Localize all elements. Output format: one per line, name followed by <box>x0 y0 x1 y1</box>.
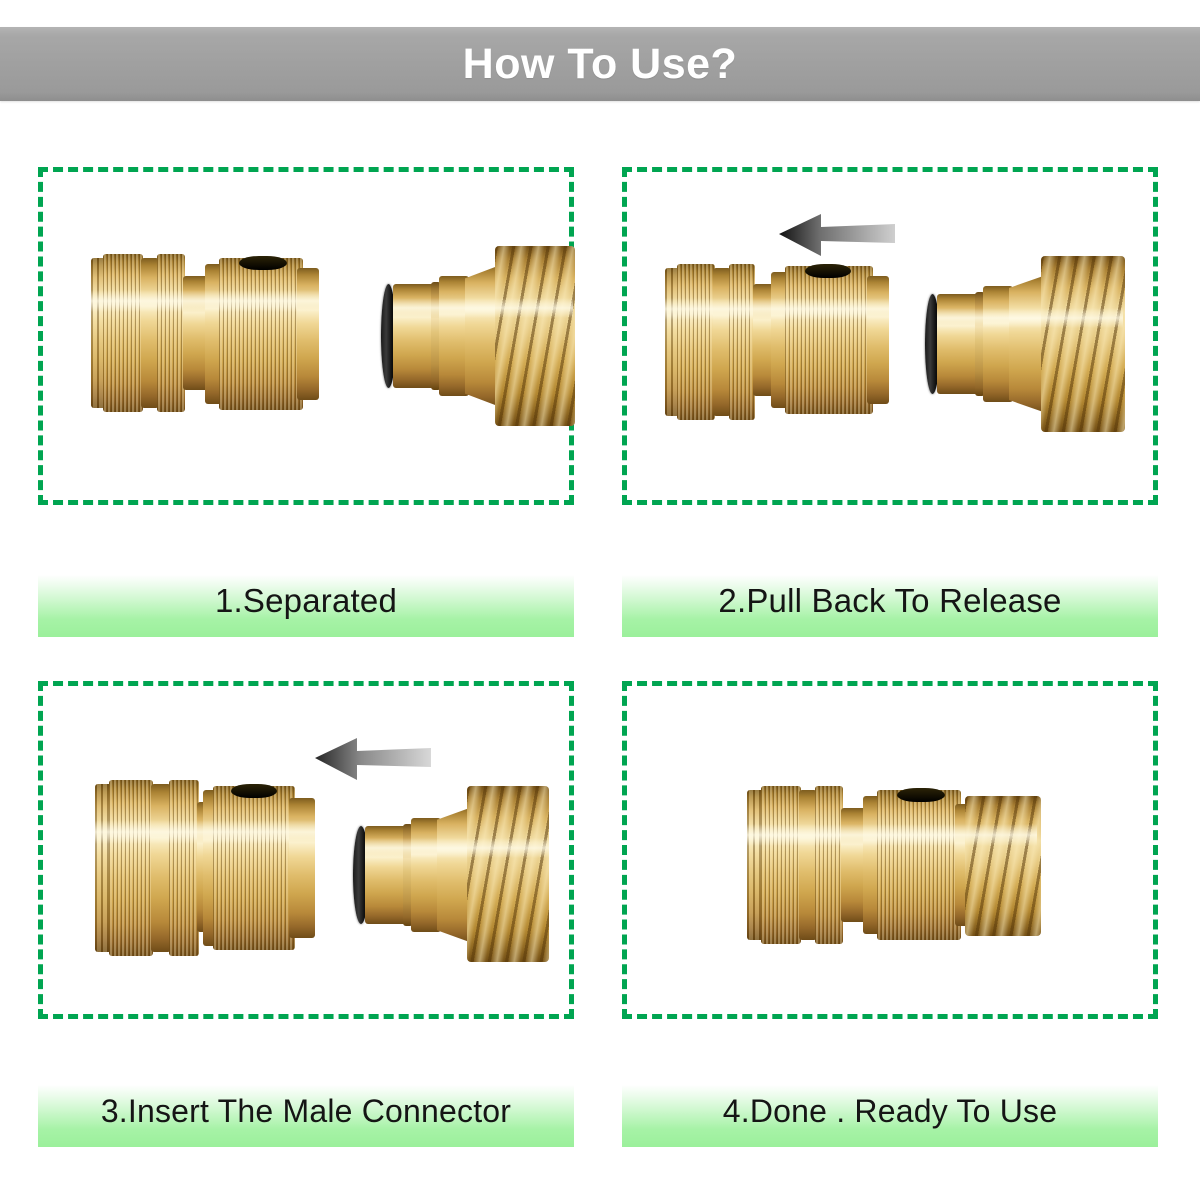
female-connector-release-sleeve <box>219 258 303 410</box>
step-3-caption: 3.Insert The Male Connector <box>38 1075 574 1147</box>
step-1-caption: 1.Separated <box>38 565 574 637</box>
male-connector-plug-stem <box>937 294 979 394</box>
male-connector-shoulder <box>983 286 1013 402</box>
steps-grid: 1.Separated <box>0 101 1200 1200</box>
female-connector-knurled-ring-b <box>169 780 199 956</box>
female-connector-release-sleeve <box>785 266 873 414</box>
insert-arrow-icon <box>313 734 433 786</box>
female-connector-knurled-ring-a <box>109 780 153 956</box>
male-connector-threads <box>467 786 549 962</box>
male-connector-plug-stem <box>393 284 435 388</box>
pull-back-arrow-icon <box>777 210 897 262</box>
female-connector-nose <box>867 276 889 404</box>
step-3-illustration <box>43 686 579 1024</box>
female-connector-knurled-ring-b <box>157 254 185 412</box>
step-4-image-frame <box>622 681 1158 1019</box>
step-4-caption: 4.Done . Ready To Use <box>622 1075 1158 1147</box>
male-connector-threads <box>495 246 575 426</box>
step-2-caption: 2.Pull Back To Release <box>622 565 1158 637</box>
step-4-illustration <box>627 686 1163 1024</box>
header-bar: How To Use? <box>0 27 1200 101</box>
step-card-4: 4.Done . Ready To Use <box>622 681 1162 1141</box>
step-card-1: 1.Separated <box>38 167 578 627</box>
step-2-image-frame <box>622 167 1158 505</box>
assembled-knurled-ring-b <box>815 786 843 944</box>
female-connector-nose <box>297 268 319 400</box>
step-2-illustration <box>627 172 1163 510</box>
female-connector-knurled-ring-b <box>729 264 755 420</box>
male-connector-plug-stem <box>365 826 407 924</box>
male-connector-threads <box>1041 256 1125 432</box>
female-connector-body-a <box>151 784 171 952</box>
female-connector-knurled-ring-a <box>677 264 715 420</box>
female-connector-locking-slot <box>231 784 277 798</box>
female-connector-knurled-ring-a <box>103 254 143 412</box>
page-title: How To Use? <box>463 40 738 89</box>
assembled-release-sleeve <box>877 790 961 940</box>
female-connector-locking-slot <box>805 264 851 278</box>
female-connector-release-sleeve <box>213 786 295 950</box>
male-connector-shoulder <box>411 818 441 932</box>
step-card-3: 3.Insert The Male Connector <box>38 681 578 1141</box>
step-1-image-frame <box>38 167 574 505</box>
assembled-male-threads <box>965 796 1041 936</box>
assembled-knurled-ring-a <box>761 786 801 944</box>
female-connector-nose <box>289 798 315 938</box>
step-3-image-frame <box>38 681 574 1019</box>
female-connector-locking-slot <box>239 256 287 270</box>
step-card-2: 2.Pull Back To Release <box>622 167 1162 627</box>
step-1-illustration <box>43 172 579 510</box>
assembled-locking-slot <box>897 788 945 802</box>
male-connector-shoulder <box>439 276 469 396</box>
